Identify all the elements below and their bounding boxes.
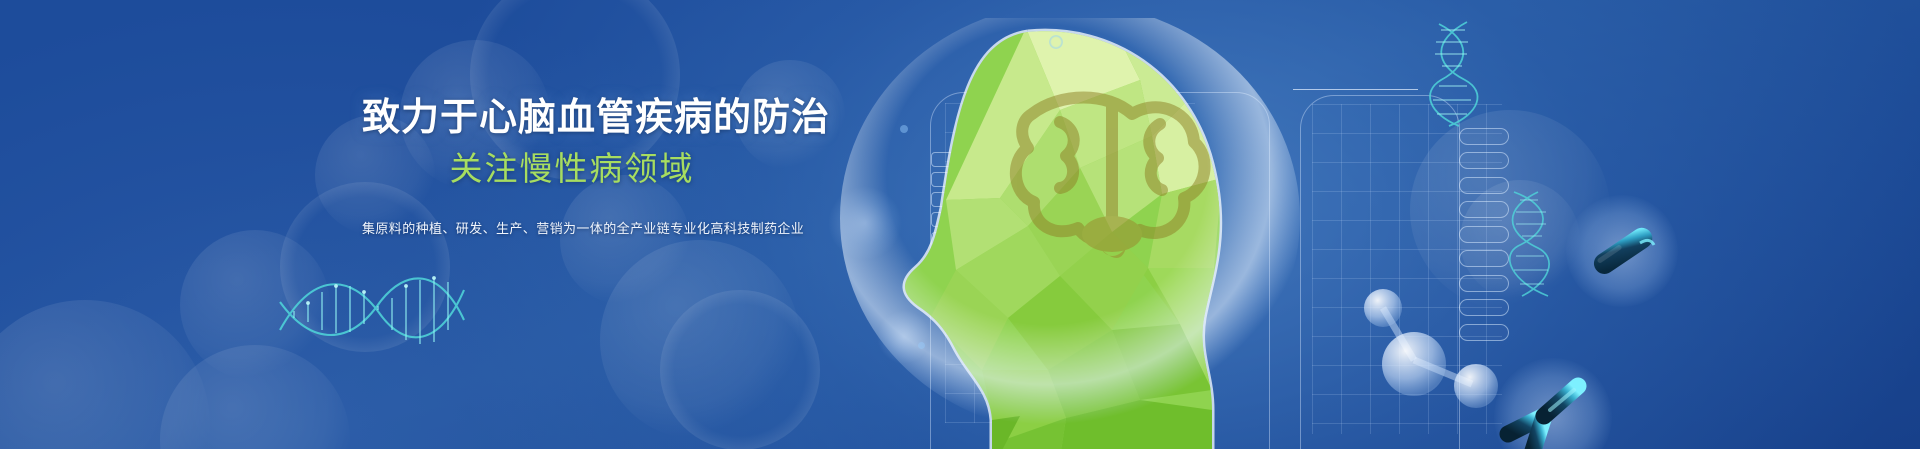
hero-banner: 致力于心脑血管疾病的防治 关注慢性病领域 集原料的种植、研发、生产、营销为一体的… [0,0,1920,449]
right-hud-slot [1459,201,1509,218]
right-hud-slot [1459,152,1509,169]
right-hud-slot [1459,275,1509,292]
microbe-y-shaped-icon [1494,358,1612,449]
dna-helix-icon [272,258,472,348]
right-hud-slot [1459,128,1509,145]
dna-helix-icon [1415,18,1487,130]
bokeh-circle [180,230,330,380]
right-hud-slot [1459,250,1509,267]
molecule-icon [1350,272,1520,432]
right-hud-slot [1459,177,1509,194]
banner-headline: 致力于心脑血管疾病的防治 [362,96,782,141]
banner-tagline: 集原料的种植、研发、生产、营销为一体的全产业链专业化高科技制药企业 [362,219,782,239]
microbe-rod-icon [1566,195,1678,307]
bokeh-circle [1410,110,1610,310]
right-hud-slot [1459,226,1509,243]
banner-copy: 致力于心脑血管疾病的防治 关注慢性病领域 集原料的种植、研发、生产、营销为一体的… [362,96,782,238]
banner-subheadline: 关注慢性病领域 [362,150,782,189]
microbe-halo [1494,358,1612,449]
bokeh-circle [0,300,210,449]
bokeh-circle [1460,180,1580,300]
dna-helix-icon [1508,190,1574,300]
low-poly-head-graphic [760,18,1360,449]
right-hud-slot [1459,324,1509,341]
bokeh-circle [160,345,350,449]
microbe-halo [1566,195,1678,307]
right-hud-slot [1459,299,1509,316]
